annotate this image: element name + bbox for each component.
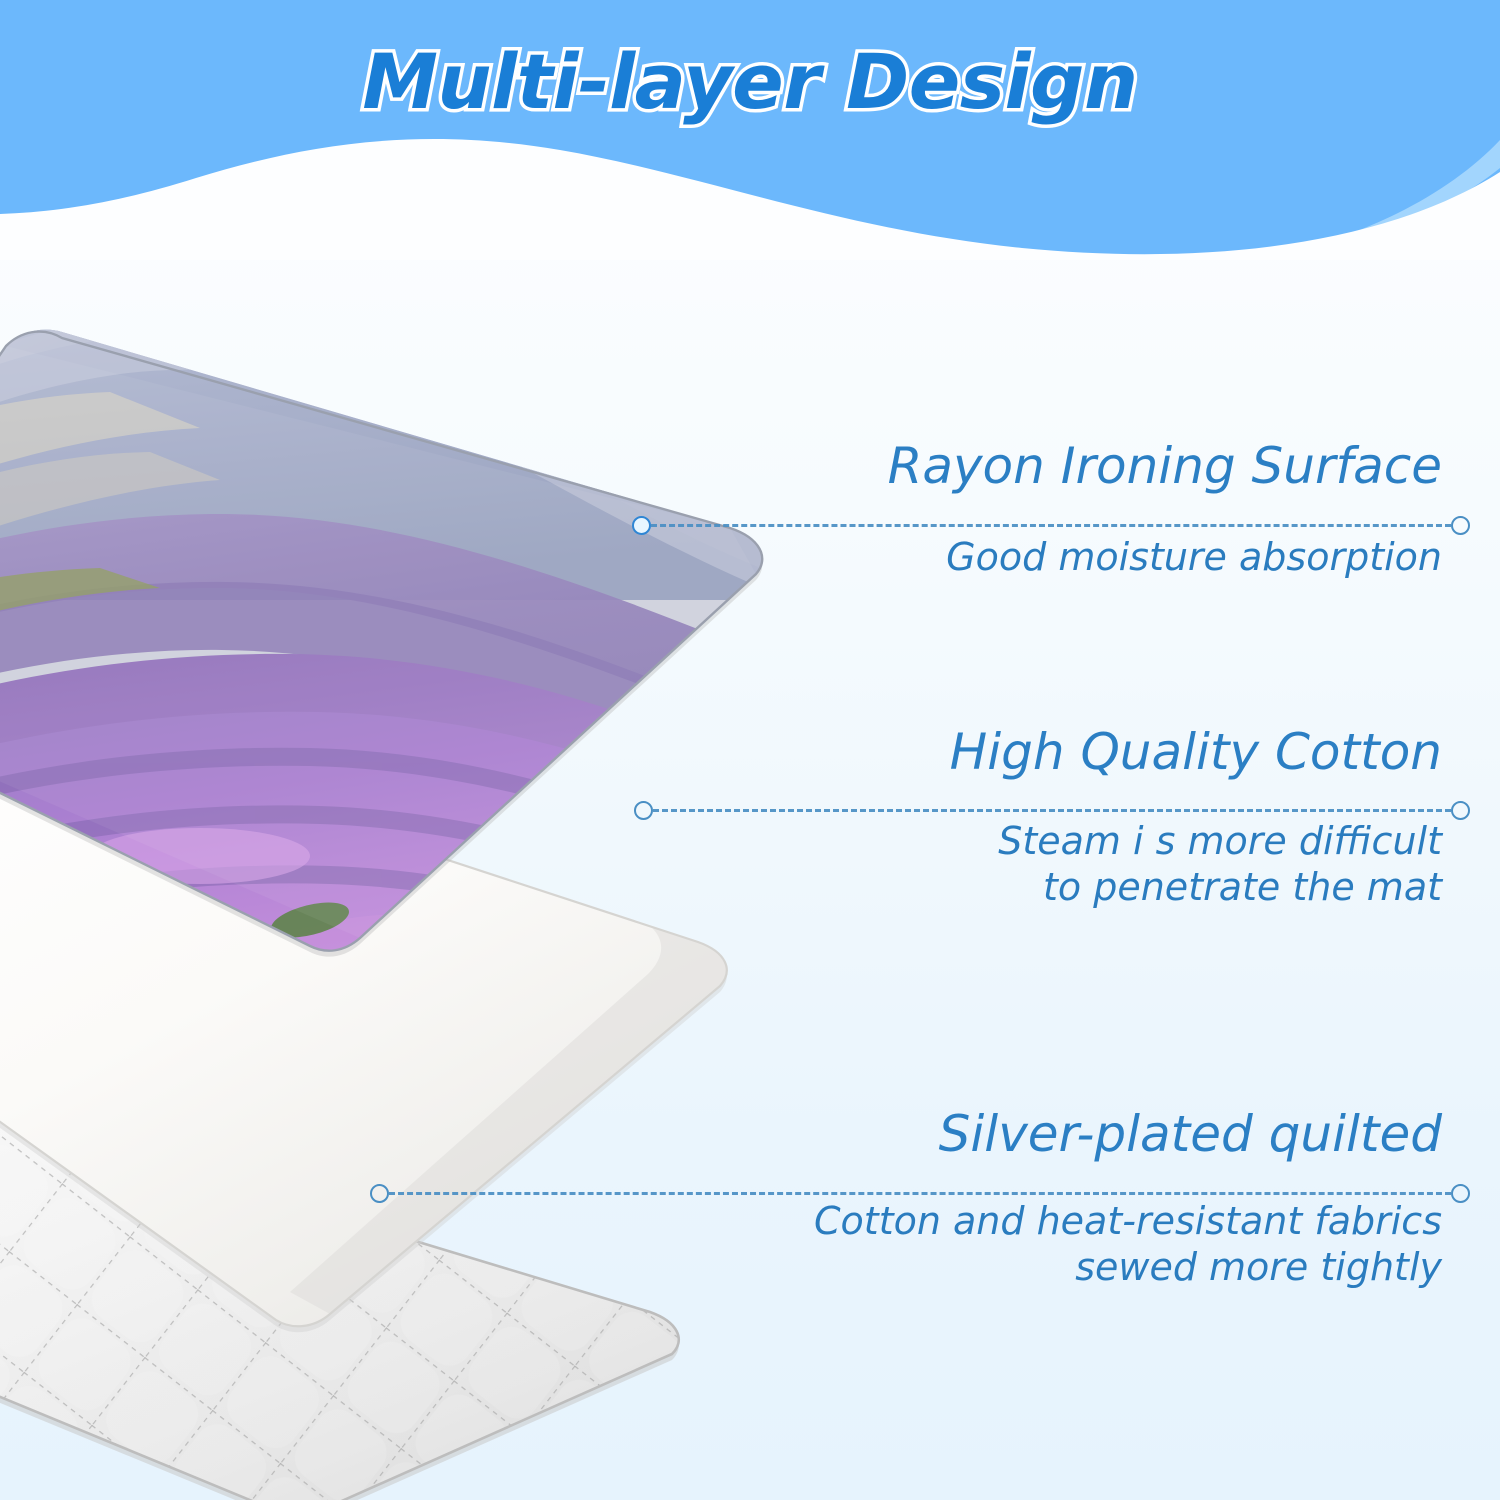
connector-dot-left-2 [634, 801, 653, 820]
page-title: Multi-layer Design [362, 37, 1137, 126]
feature-subtext-3-line-2: sewed more tightly [814, 1244, 1442, 1290]
header-banner: Multi-layer Design [0, 0, 1500, 260]
mat-layer-stack [0, 300, 830, 1500]
connector-dot-left-3 [370, 1184, 389, 1203]
feature-subtext-3-line-1: Cotton and heat-resistant fabrics [814, 1198, 1442, 1244]
infographic-canvas: Multi-layer Design [0, 0, 1500, 1500]
feature-heading-1: Rayon Ironing Surface [888, 440, 1442, 492]
connector-dot-right-2 [1451, 801, 1470, 820]
feature-callout-rayon: Rayon Ironing Surface Good moisture abso… [888, 440, 1442, 580]
feature-heading-3: Silver-plated quilted [814, 1108, 1442, 1160]
feature-heading-2: High Quality Cotton [950, 726, 1442, 778]
feature-subtext-1-line-1: Good moisture absorption [888, 534, 1442, 580]
feature-subtext-2-line-1: Steam i s more difficult [950, 818, 1442, 864]
connector-dot-right-1 [1451, 516, 1470, 535]
connector-dot-right-3 [1451, 1184, 1470, 1203]
feature-callout-cotton: High Quality Cotton Steam i s more diffi… [950, 726, 1442, 911]
connector-dot-left-1 [632, 516, 651, 535]
feature-callout-quilted: Silver-plated quilted Cotton and heat-re… [814, 1108, 1442, 1291]
page-title-container: Multi-layer Design [0, 0, 1500, 175]
feature-subtext-2-line-2: to penetrate the mat [950, 864, 1442, 910]
